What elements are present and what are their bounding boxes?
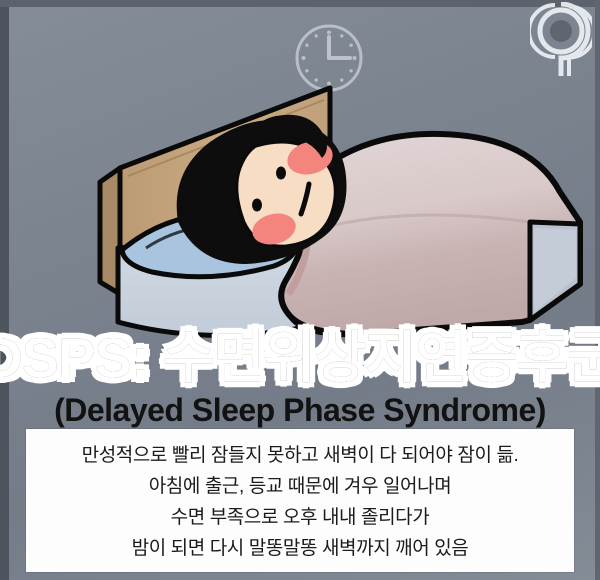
stylized-p-logo: [530, 2, 592, 76]
description-line: 만성적으로 빨리 잠들지 못하고 새벽이 다 되어야 잠이 듦.: [26, 440, 574, 471]
frame-border-left: [0, 0, 9, 580]
description-lines: 만성적으로 빨리 잠들지 못하고 새벽이 다 되어야 잠이 듦. 아침에 출근,…: [26, 429, 574, 564]
eye-upper: [276, 167, 286, 180]
eye-lower: [252, 199, 262, 212]
person-lying-awake-in-bed: [60, 72, 600, 347]
description-line: 수면 부족으로 오후 내내 졸리다가: [26, 502, 574, 533]
frame-border-top: [0, 0, 600, 7]
description-line: 밤이 되면 다시 말똥말똥 새벽까지 깨어 있음: [26, 533, 574, 564]
headline: DSPS: 수면위상지연증후군: [0, 322, 600, 394]
description-panel: 만성적으로 빨리 잠들지 못하고 새벽이 다 되어야 잠이 듦. 아침에 출근,…: [26, 429, 574, 572]
subtitle-text: (Delayed Sleep Phase Syndrome): [0, 392, 600, 429]
headline-text: DSPS: 수면위상지연증후군: [0, 330, 600, 386]
infographic-card: DSPS: 수면위상지연증후군 (Delayed Sleep Phase Syn…: [0, 0, 600, 580]
description-line: 아침에 출근, 등교 때문에 겨우 일어나며: [26, 471, 574, 502]
